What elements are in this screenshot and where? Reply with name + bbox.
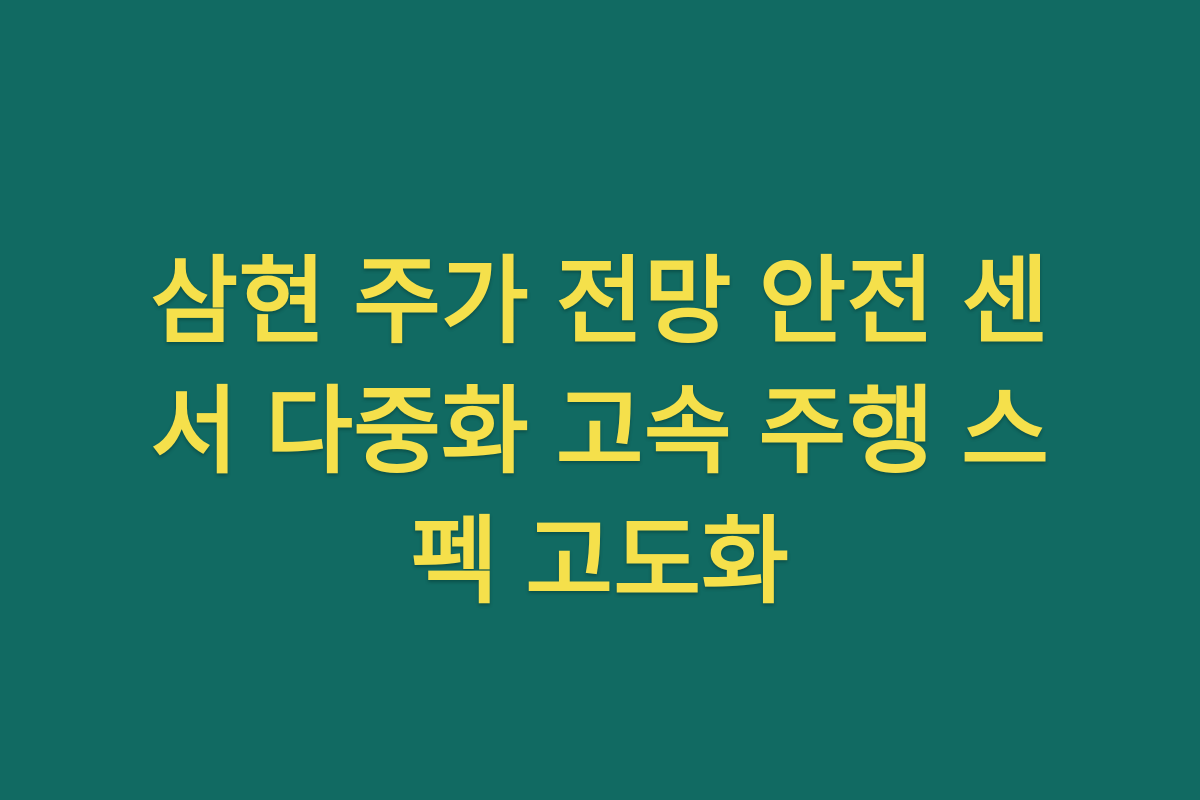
headline-line-3: 펙 고도화 bbox=[60, 497, 1140, 627]
headline-line-1: 삼현 주가 전망 안전 센 bbox=[60, 237, 1140, 367]
headline-block: 삼현 주가 전망 안전 센 서 다중화 고속 주행 스 펙 고도화 bbox=[0, 237, 1200, 627]
banner-canvas: 삼현 주가 전망 안전 센 서 다중화 고속 주행 스 펙 고도화 bbox=[0, 0, 1200, 800]
page-title: 삼현 주가 전망 안전 센 서 다중화 고속 주행 스 펙 고도화 bbox=[60, 237, 1140, 627]
headline-line-2: 서 다중화 고속 주행 스 bbox=[60, 367, 1140, 497]
